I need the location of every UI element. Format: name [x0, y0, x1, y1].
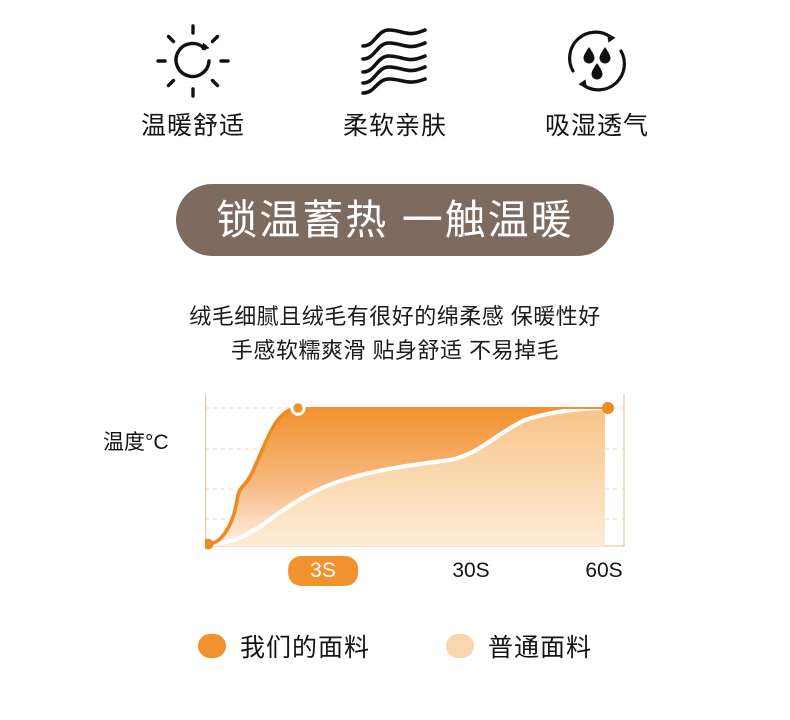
chart-marker-origin [205, 539, 213, 550]
chart-x-axis: 3S 30S 60S [205, 556, 625, 590]
legend-item-our-fabric: 我们的面料 [198, 628, 370, 664]
legend-item-ordinary-fabric: 普通面料 [446, 628, 592, 664]
chart-tick-60s: 60S [585, 559, 622, 583]
chart-tick-30s: 30S [452, 559, 489, 583]
headline-banner: 锁温蓄热 一触温暖 [176, 184, 614, 256]
legend-swatch-our-fabric [198, 634, 226, 658]
feature-item-breathability: 吸湿透气 [522, 22, 672, 142]
legend-swatch-ordinary-fabric [446, 634, 474, 658]
description-line-2: 手感软糯爽滑 贴身舒适 不易掉毛 [0, 334, 790, 368]
chart-marker-60s [602, 402, 614, 414]
legend-label-ordinary-fabric: 普通面料 [488, 628, 592, 664]
product-description: 绒毛细腻且绒毛有很好的绵柔感 保暖性好 手感软糯爽滑 贴身舒适 不易掉毛 [0, 300, 790, 368]
feature-highlights-row: 温暖舒适 柔软亲肤 [0, 0, 790, 142]
chart-legend: 我们的面料 普通面料 [0, 628, 790, 664]
headline-banner-wrapper: 锁温蓄热 一触温暖 [0, 184, 790, 256]
temperature-chart: 温度°C [0, 394, 790, 594]
chart-marker-3s [292, 402, 304, 414]
headline-banner-text: 锁温蓄热 一触温暖 [216, 200, 573, 241]
moisture-cycle-icon [558, 22, 636, 100]
feature-label-breathability: 吸湿透气 [545, 106, 649, 142]
wave-lines-icon [355, 22, 435, 100]
legend-label-our-fabric: 我们的面料 [240, 628, 370, 664]
feature-label-softness: 柔软亲肤 [343, 106, 447, 142]
chart-plot-area [205, 394, 625, 554]
feature-item-softness: 柔软亲肤 [320, 22, 470, 142]
chart-y-axis-label: 温度°C [103, 426, 169, 456]
description-line-1: 绒毛细腻且绒毛有很好的绵柔感 保暖性好 [0, 300, 790, 334]
feature-label-warmth: 温暖舒适 [141, 106, 245, 142]
feature-item-warmth: 温暖舒适 [118, 22, 268, 142]
chart-svg [205, 394, 625, 554]
chart-tick-3s: 3S [288, 556, 358, 586]
sun-icon [155, 22, 231, 100]
